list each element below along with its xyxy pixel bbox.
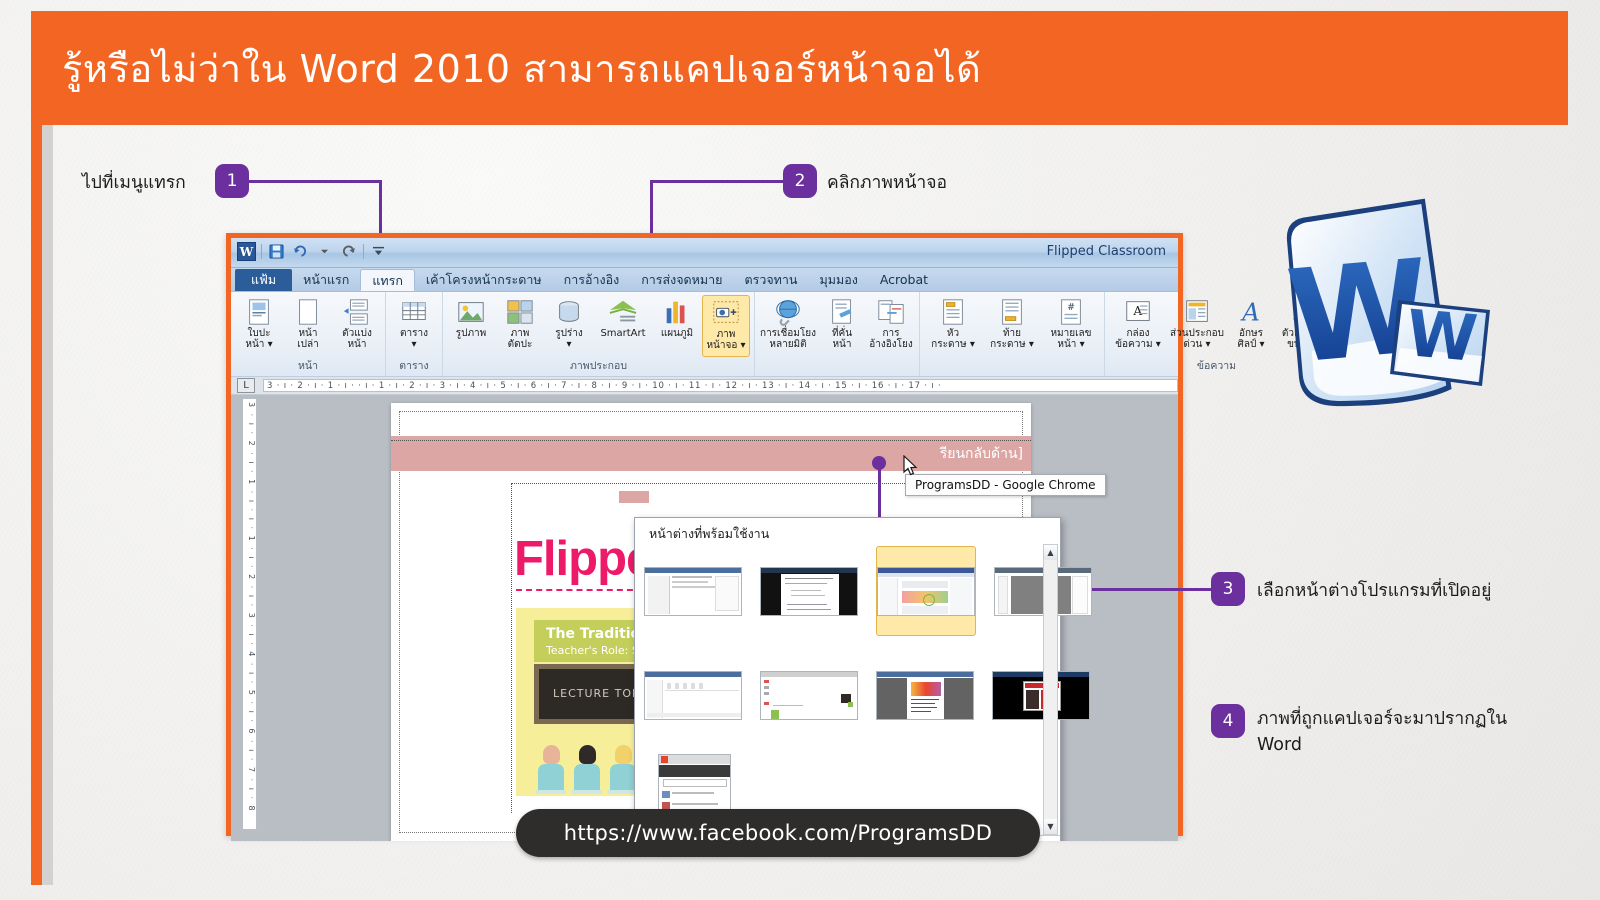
thumbnail-item-6[interactable]: [760, 650, 858, 740]
table-button[interactable]: ตาราง▾: [390, 295, 438, 357]
tab-references[interactable]: การอ้างอิง: [553, 269, 631, 291]
cover-page-icon: [244, 297, 274, 327]
connector-1-horizontal: [249, 180, 382, 183]
textbox-icon: A: [1123, 297, 1153, 327]
callout-text-3: เลือกหน้าต่างโปรแกรมที่เปิดอยู่: [1257, 576, 1491, 604]
gallery-scrollbar[interactable]: ▲ ▼: [1043, 544, 1058, 835]
quickparts-icon: [1182, 297, 1212, 327]
connector-2-horizontal: [650, 180, 784, 183]
thumbnail-item-5[interactable]: [644, 650, 742, 740]
clipart-icon: [505, 297, 535, 327]
bookmark-icon: [827, 297, 857, 327]
ribbon-group-illustrations: รูปภาพ ภาพตัดปะ รูปร่าง▾ SmartArt แผนภูม…: [443, 292, 755, 376]
smartart-button[interactable]: SmartArt: [594, 295, 652, 357]
thumbnail-preview: [876, 671, 974, 720]
screenshot-icon: [711, 298, 741, 328]
thumbnail-item-1[interactable]: [644, 546, 742, 636]
thumbnail-preview: [760, 671, 858, 720]
group-label-table: ตาราง: [386, 357, 442, 376]
chart-icon: [662, 297, 692, 327]
blank-page-icon: [293, 297, 323, 327]
smartart-label: SmartArt: [600, 328, 645, 339]
chart-button[interactable]: แผนภูมิ: [653, 295, 701, 357]
student-figure: [574, 745, 600, 790]
page-number-icon: #: [1056, 297, 1086, 327]
picture-icon: [456, 297, 486, 327]
ribbon-tabs[interactable]: แฟ้ม หน้าแรก แทรก เค้าโครงหน้ากระดาษ การ…: [231, 268, 1178, 292]
callout-text-2: คลิกภาพหน้าจอ: [827, 168, 947, 196]
quickparts-label: ส่วนประกอบด่วน ▾: [1170, 328, 1224, 350]
cover-page-label: ใบปะหน้า ▾: [245, 328, 272, 350]
gallery-thumbnail-grid[interactable]: [644, 546, 1038, 841]
screenshot-label: ภาพหน้าจอ ▾: [706, 329, 745, 351]
tab-page-layout[interactable]: เค้าโครงหน้ากระดาษ: [415, 269, 553, 291]
group-label-links: [755, 374, 919, 376]
thumbnail-preview-chrome: [877, 567, 975, 616]
student-figure: [538, 745, 564, 790]
word-2010-logo: W W: [1248, 196, 1518, 496]
mouse-cursor-icon: [903, 455, 919, 481]
ribbon-group-header-footer: หัวกระดาษ ▾ ท้ายกระดาษ ▾ # หมายเลขหน้า ▾: [920, 292, 1105, 376]
page-number-label: หมายเลขหน้า ▾: [1050, 328, 1091, 350]
group-label-header-footer: [920, 374, 1104, 376]
textbox-button[interactable]: A กล่องข้อความ ▾: [1109, 295, 1167, 357]
tab-review[interactable]: ตรวจทาน: [734, 269, 809, 291]
shapes-button[interactable]: รูปร่าง▾: [545, 295, 593, 357]
table-icon: [399, 297, 429, 327]
document-title: Flipped Classroom: [1047, 244, 1166, 259]
facebook-url-pill[interactable]: https://www.facebook.com/ProgramsDD: [516, 809, 1040, 857]
callout-badge-2: 2: [783, 164, 817, 198]
thumbnail-item-8[interactable]: [992, 650, 1090, 740]
shapes-label: รูปร่าง▾: [555, 328, 583, 350]
tab-insert[interactable]: แทรก: [360, 269, 415, 291]
header-button[interactable]: หัวกระดาษ ▾: [924, 295, 982, 374]
header-icon: [938, 297, 968, 327]
hyperlink-button[interactable]: การเชื่อมโยงหลายมิติ: [759, 295, 817, 374]
ribbon-group-links: การเชื่อมโยงหลายมิติ ที่คั่นหน้า การอ้าง…: [755, 292, 920, 376]
tab-stop-selector[interactable]: L: [237, 378, 255, 393]
thumbnail-preview: [644, 567, 742, 616]
chart-label: แผนภูมิ: [661, 328, 693, 339]
scroll-up-icon[interactable]: ▲: [1044, 545, 1057, 560]
quick-access-toolbar[interactable]: W: [237, 242, 388, 261]
shapes-icon: [554, 297, 584, 327]
horizontal-ruler[interactable]: 3 · ı · 2 · ı · 1 · ı · · ı · 1 · ı · 2 …: [263, 379, 1178, 392]
callout-badge-1: 1: [215, 164, 249, 198]
ribbon-group-table: ตาราง▾ ตาราง: [386, 292, 443, 376]
callout-badge-4: 4: [1211, 704, 1245, 738]
student-figure: [610, 745, 636, 790]
thumbnail-row: [644, 650, 1038, 740]
save-icon[interactable]: [267, 242, 286, 261]
svg-text:W: W: [1403, 297, 1480, 377]
left-rail-grey: [42, 125, 53, 885]
header-label: หัวกระดาษ ▾: [931, 328, 975, 350]
thumbnail-preview: [760, 567, 858, 616]
tab-view[interactable]: มุมมอง: [808, 269, 868, 291]
document-workspace: 3 · ı · 2 · ı · 1 · ı · ı · 1 · ı · 2 · …: [231, 395, 1178, 841]
footer-icon: [997, 297, 1027, 327]
connector-3-endpoint-dot: [872, 456, 886, 470]
blank-page-button[interactable]: หน้าเปล่า: [284, 295, 332, 357]
scroll-down-icon[interactable]: ▼: [1044, 819, 1057, 834]
blank-page-label: หน้าเปล่า: [297, 328, 319, 350]
ruler-row: L 3 · ı · 2 · ı · 1 · ı · · ı · 1 · ı · …: [231, 377, 1178, 395]
gallery-scroll-area[interactable]: [635, 544, 1060, 835]
smartart-icon: [608, 297, 638, 327]
page-banner-text: รียนกลับด้าน]: [940, 443, 1023, 465]
toolbar-divider: [261, 244, 262, 259]
window-tooltip: ProgramsDD - Google Chrome: [905, 474, 1106, 496]
crossref-label: การอ้างอิงโยง: [869, 328, 913, 350]
clipart-button[interactable]: ภาพตัดปะ: [496, 295, 544, 357]
thumbnail-item-7[interactable]: [876, 650, 974, 740]
callout-text-4: ภาพที่ถูกแคปเจอร์จะมาปรากฏใน Word: [1257, 706, 1547, 759]
textbox-label: กล่องข้อความ ▾: [1115, 328, 1161, 350]
thumbnail-preview: [644, 671, 742, 720]
quickparts-button[interactable]: ส่วนประกอบด่วน ▾: [1168, 295, 1226, 357]
toolbar-divider-2: [363, 244, 364, 259]
bookmark-button[interactable]: ที่คั่นหน้า: [818, 295, 866, 374]
table-label: ตาราง▾: [400, 328, 428, 350]
thumbnail-item-2[interactable]: [760, 546, 858, 636]
footer-label: ท้ายกระดาษ ▾: [990, 328, 1034, 350]
redo-icon[interactable]: [339, 242, 358, 261]
screenshot-gallery-dropdown[interactable]: หน้าต่างที่พร้อมใช้งาน: [634, 517, 1061, 841]
clipart-label: ภาพตัดปะ: [508, 328, 533, 350]
window-title-bar: W Flipped Classroom: [231, 238, 1178, 268]
bookmark-label: ที่คั่นหน้า: [832, 328, 852, 350]
page-pink-banner: [391, 436, 1031, 471]
word-application-window: W Flipped Classroom แฟ้ม หน้าแรก แทรก: [226, 233, 1183, 836]
ribbon: ใบปะหน้า ▾ หน้าเปล่า ตัวแบ่งหน้า หน้า ตา…: [231, 292, 1178, 377]
page-title: รู้หรือไม่ว่าใน Word 2010 สามารถแคปเจอร์…: [62, 38, 981, 99]
undo-icon[interactable]: [291, 242, 310, 261]
page-break-label: ตัวแบ่งหน้า: [342, 328, 372, 350]
picture-label: รูปภาพ: [456, 328, 487, 339]
left-rail-orange: [31, 125, 42, 885]
tab-mailings[interactable]: การส่งจดหมาย: [630, 269, 733, 291]
hyperlink-label: การเชื่อมโยงหลายมิติ: [760, 328, 816, 350]
svg-text:#: #: [1067, 302, 1075, 313]
thumbnail-row: [644, 546, 1038, 636]
page-dotted-line: [391, 440, 1031, 441]
page-break-button[interactable]: ตัวแบ่งหน้า: [333, 295, 381, 357]
vertical-ruler[interactable]: 3 · ı · 2 · ı · 1 · ı · ı · 1 · ı · 2 · …: [243, 399, 257, 829]
tab-home[interactable]: หน้าแรก: [292, 269, 360, 291]
picture-button[interactable]: รูปภาพ: [447, 295, 495, 357]
crossref-icon: [876, 297, 906, 327]
callout-text-1: ไปที่เมนูแทรก: [82, 168, 186, 196]
tab-file[interactable]: แฟ้ม: [235, 269, 292, 291]
group-label-pages: หน้า: [231, 357, 385, 376]
hyperlink-icon: [773, 297, 803, 327]
facebook-url-text: https://www.facebook.com/ProgramsDD: [564, 821, 992, 845]
crossref-button[interactable]: การอ้างอิงโยง: [867, 295, 915, 374]
customize-toolbar-icon[interactable]: [369, 242, 388, 261]
page-number-button[interactable]: # หมายเลขหน้า ▾: [1042, 295, 1100, 374]
thumbnail-preview: [992, 671, 1090, 720]
page-break-icon: [342, 297, 372, 327]
thumbnail-item-3-selected[interactable]: [876, 546, 976, 636]
ribbon-group-pages: ใบปะหน้า ▾ หน้าเปล่า ตัวแบ่งหน้า หน้า: [231, 292, 386, 376]
chevron-down-icon[interactable]: [315, 242, 334, 261]
word-icon[interactable]: W: [237, 242, 256, 261]
footer-button[interactable]: ท้ายกระดาษ ▾: [983, 295, 1041, 374]
group-label-illustrations: ภาพประกอบ: [443, 357, 754, 376]
screenshot-button[interactable]: ภาพหน้าจอ ▾: [702, 295, 750, 357]
callout-badge-3: 3: [1211, 572, 1245, 606]
tab-acrobat[interactable]: Acrobat: [869, 269, 939, 291]
cover-page-button[interactable]: ใบปะหน้า ▾: [235, 295, 283, 357]
